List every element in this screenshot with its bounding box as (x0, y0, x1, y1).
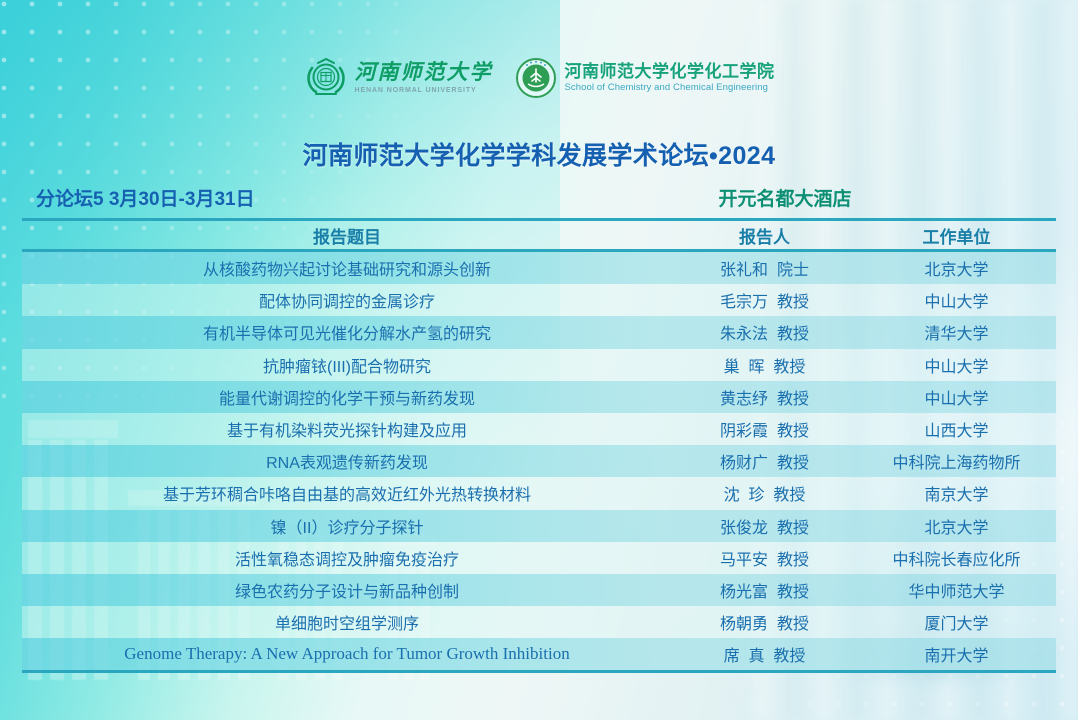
cell-person: 张礼和 院士 (672, 256, 857, 280)
cell-title: 抗肿瘤铱(III)配合物研究 (22, 353, 672, 377)
table-row: 能量代谢调控的化学干预与新药发现黄志纾 教授中山大学 (22, 381, 1056, 413)
nnu-name-en: HENAN NORMAL UNIVERSITY (355, 87, 493, 94)
table-row: RNA表观遗传新药发现杨财广 教授中科院上海药物所 (22, 445, 1056, 477)
table-row: Genome Therapy: A New Approach for Tumor… (22, 638, 1056, 673)
cell-person: 毛宗万 教授 (672, 288, 857, 312)
table-row: 从核酸药物兴起讨论基础研究和源头创新张礼和 院士北京大学 (22, 252, 1056, 284)
column-header-title: 报告题目 (22, 223, 672, 248)
table-row: 活性氧稳态调控及肿瘤免疫治疗马平安 教授中科院长春应化所 (22, 542, 1056, 574)
cell-title: 配体协同调控的金属诊疗 (22, 288, 672, 312)
cell-title: 基于有机染料荧光探针构建及应用 (22, 417, 672, 441)
cell-org: 中山大学 (857, 353, 1056, 377)
table-row: 基于芳环稠合咔咯自由基的高效近红外光热转换材料沈 珍 教授南京大学 (22, 477, 1056, 509)
cell-org: 北京大学 (857, 256, 1056, 280)
cell-person: 杨财广 教授 (672, 449, 857, 473)
poster-canvas: 河南师范大学 HENAN NORMAL UNIVERSITY 河南师范大学化学化… (0, 0, 1078, 720)
table-row: 有机半导体可见光催化分解水产氢的研究朱永法 教授清华大学 (22, 316, 1056, 348)
cell-org: 厦门大学 (857, 610, 1056, 634)
cell-title: 单细胞时空组学测序 (22, 610, 672, 634)
cell-person: 朱永法 教授 (672, 320, 857, 344)
sce-name-cn: 河南师范大学化学化工学院 (565, 63, 775, 81)
cell-title: Genome Therapy: A New Approach for Tumor… (22, 644, 672, 664)
cell-person: 沈 珍 教授 (672, 481, 857, 505)
cell-person: 席 真 教授 (672, 642, 857, 666)
cell-title: 基于芳环稠合咔咯自由基的高效近红外光热转换材料 (22, 481, 672, 505)
sce-name-en: School of Chemistry and Chemical Enginee… (565, 83, 775, 93)
logo-henan-normal-university: 河南师范大学 HENAN NORMAL UNIVERSITY (304, 56, 493, 100)
cell-person: 张俊龙 教授 (672, 514, 857, 538)
table-body: 从核酸药物兴起讨论基础研究和源头创新张礼和 院士北京大学配体协同调控的金属诊疗毛… (22, 252, 1056, 673)
sce-wordmark: 河南师范大学化学化工学院 School of Chemistry and Che… (565, 63, 775, 94)
cell-org: 中山大学 (857, 288, 1056, 312)
cell-person: 杨朝勇 教授 (672, 610, 857, 634)
sce-seal-icon (515, 57, 557, 99)
cell-person: 阴彩霞 教授 (672, 417, 857, 441)
column-header-person: 报告人 (672, 223, 857, 248)
table-row: 配体协同调控的金属诊疗毛宗万 教授中山大学 (22, 284, 1056, 316)
page-title: 河南师范大学化学学科发展学术论坛•2024 (0, 136, 1078, 172)
logo-bar: 河南师范大学 HENAN NORMAL UNIVERSITY 河南师范大学化学化… (0, 56, 1078, 100)
venue-label: 开元名都大酒店 (282, 184, 1078, 211)
cell-title: 活性氧稳态调控及肿瘤免疫治疗 (22, 546, 672, 570)
logo-school-of-chemistry: 河南师范大学化学化工学院 School of Chemistry and Che… (515, 57, 775, 99)
cell-org: 南开大学 (857, 642, 1056, 666)
cell-org: 北京大学 (857, 514, 1056, 538)
table-row: 镍（II）诊疗分子探针张俊龙 教授北京大学 (22, 510, 1056, 542)
table-row: 抗肿瘤铱(III)配合物研究巢 晖 教授中山大学 (22, 349, 1056, 381)
cell-org: 中科院长春应化所 (857, 546, 1056, 570)
cell-org: 中山大学 (857, 385, 1056, 409)
table-row: 单细胞时空组学测序杨朝勇 教授厦门大学 (22, 606, 1056, 638)
table-row: 绿色农药分子设计与新品种创制杨光富 教授华中师范大学 (22, 574, 1056, 606)
cell-person: 黄志纾 教授 (672, 385, 857, 409)
cell-person: 巢 晖 教授 (672, 353, 857, 377)
table-row: 基于有机染料荧光探针构建及应用阴彩霞 教授山西大学 (22, 413, 1056, 445)
cell-title: RNA表观遗传新药发现 (22, 449, 672, 473)
nnu-name-cn: 河南师范大学 (355, 62, 493, 83)
cell-person: 马平安 教授 (672, 546, 857, 570)
nnu-crest-icon (304, 56, 348, 100)
cell-title: 有机半导体可见光催化分解水产氢的研究 (22, 320, 672, 344)
cell-org: 中科院上海药物所 (857, 449, 1056, 473)
cell-title: 能量代谢调控的化学干预与新药发现 (22, 385, 672, 409)
cell-org: 南京大学 (857, 481, 1056, 505)
table-header-row: 报告题目 报告人 工作单位 (22, 221, 1056, 252)
column-header-org: 工作单位 (857, 223, 1056, 248)
cell-title: 从核酸药物兴起讨论基础研究和源头创新 (22, 256, 672, 280)
cell-title: 镍（II）诊疗分子探针 (22, 514, 672, 538)
cell-title: 绿色农药分子设计与新品种创制 (22, 578, 672, 602)
nnu-wordmark: 河南师范大学 HENAN NORMAL UNIVERSITY (355, 62, 493, 94)
session-label: 分论坛5 3月30日-3月31日 (36, 184, 255, 211)
cell-org: 山西大学 (857, 417, 1056, 441)
schedule-table: 报告题目 报告人 工作单位 从核酸药物兴起讨论基础研究和源头创新张礼和 院士北京… (22, 218, 1056, 673)
cell-org: 华中师范大学 (857, 578, 1056, 602)
subtitle-bar: 分论坛5 3月30日-3月31日 开元名都大酒店 (36, 184, 1042, 210)
cell-person: 杨光富 教授 (672, 578, 857, 602)
cell-org: 清华大学 (857, 320, 1056, 344)
